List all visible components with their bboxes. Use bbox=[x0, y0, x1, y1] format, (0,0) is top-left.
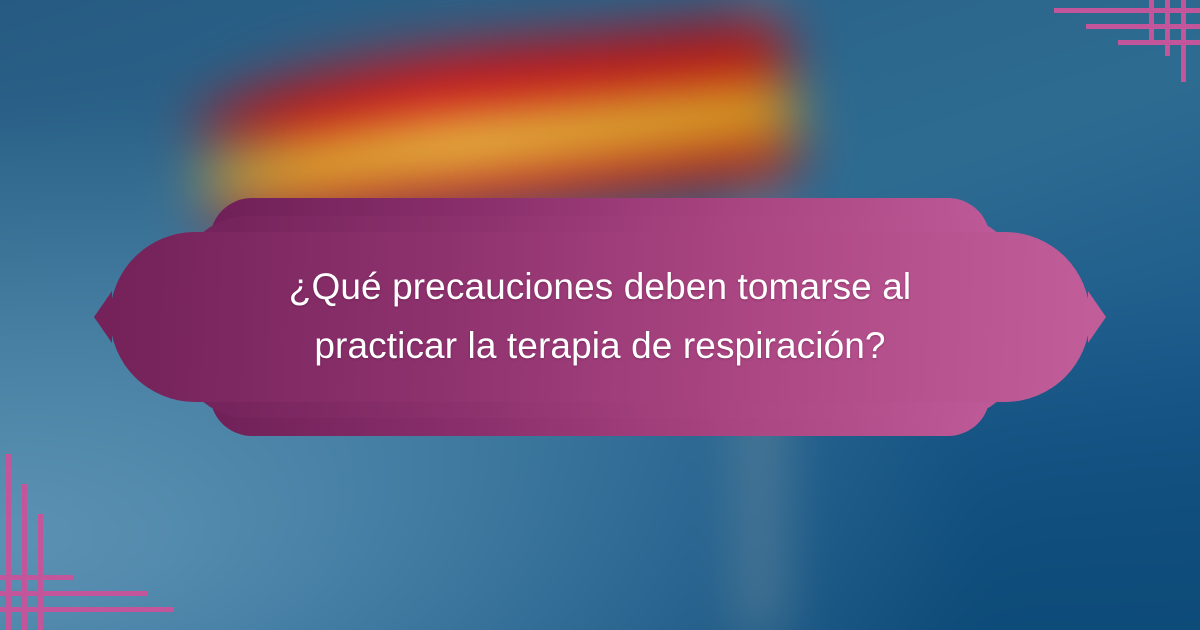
ornament-line-vertical bbox=[6, 454, 11, 630]
ornament-line-horizontal bbox=[1054, 8, 1200, 13]
headline-line-2: practicar la terapia de respiración? bbox=[314, 320, 885, 373]
ornament-line-vertical bbox=[38, 514, 43, 630]
headline-text: ¿Qué precauciones deben tomarse al pract… bbox=[110, 198, 1090, 436]
ornament-line-horizontal bbox=[0, 575, 74, 580]
screenshot-canvas: ¿Qué precauciones deben tomarse al pract… bbox=[0, 0, 1200, 630]
headline-line-1: ¿Qué precauciones deben tomarse al bbox=[289, 261, 911, 314]
corner-lines-top-right bbox=[1040, 0, 1200, 120]
headline-banner: ¿Qué precauciones deben tomarse al pract… bbox=[110, 198, 1090, 436]
banner-tip-right bbox=[1088, 291, 1106, 343]
ornament-line-horizontal bbox=[1118, 40, 1200, 45]
ornament-line-horizontal bbox=[0, 591, 148, 596]
ornament-line-vertical bbox=[1149, 0, 1154, 44]
ornament-line-horizontal bbox=[1086, 24, 1200, 29]
corner-lines-bottom-left bbox=[0, 445, 160, 630]
ornament-line-horizontal bbox=[0, 607, 174, 612]
